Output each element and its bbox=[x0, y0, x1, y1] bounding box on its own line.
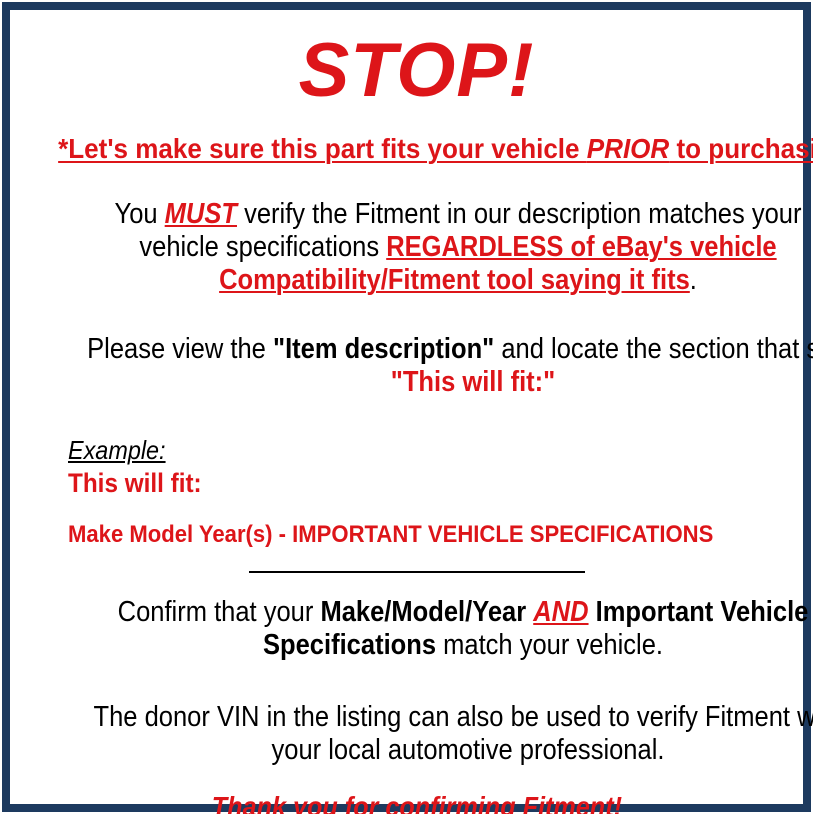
p3-seg-1: Confirm that your bbox=[118, 596, 321, 628]
paragraph-item-description: Please view the "Item description" and l… bbox=[28, 333, 805, 399]
paragraph-verify-fitment: You MUST verify the Fitment in our descr… bbox=[28, 198, 805, 297]
subtitle-banner: *Let's make sure this part fits your veh… bbox=[28, 133, 805, 165]
example-fit-header: This will fit: bbox=[68, 468, 805, 499]
fitment-notice-page: STOP! *Let's make sure this part fits yo… bbox=[0, 0, 813, 814]
example-spec-line-wrap: Make Model Year(s) - IMPORTANT VEHICLE S… bbox=[68, 521, 713, 549]
p3-seg-7: match your vehicle. bbox=[436, 629, 663, 661]
paragraph-item-description-wrap: Please view the "Item description" and l… bbox=[81, 333, 813, 399]
p2-seg-1: Please view the bbox=[87, 333, 273, 365]
closing-message-wrap: Thank you for confirming Fitment! bbox=[211, 791, 621, 814]
example-block: Example: This will fit: Make Model Year(… bbox=[28, 435, 805, 549]
p3-seg-5 bbox=[589, 596, 596, 628]
section-divider bbox=[249, 571, 585, 573]
p2-seg-3: and locate the section that says bbox=[494, 333, 813, 365]
p1-seg-1: You bbox=[115, 198, 165, 230]
example-fit-header-wrap: This will fit: bbox=[68, 468, 202, 499]
p1-seg-5: . bbox=[690, 264, 697, 296]
p1-emphasis-must: MUST bbox=[165, 198, 237, 230]
paragraph-donor-vin: The donor VIN in the listing can also be… bbox=[28, 701, 805, 767]
subtitle-emphasis-prior: PRIOR bbox=[587, 133, 669, 164]
paragraph-confirm-match-wrap: Confirm that your Make/Model/Year AND Im… bbox=[80, 596, 813, 662]
notice-content: STOP! *Let's make sure this part fits yo… bbox=[20, 20, 813, 814]
paragraph-verify-fitment-wrap: You MUST verify the Fitment in our descr… bbox=[80, 198, 813, 297]
page-title: STOP! bbox=[28, 33, 805, 109]
example-label: Example: bbox=[68, 435, 166, 466]
p3-emphasis-and: AND bbox=[533, 596, 588, 628]
p3-bold-make-model-year: Make/Model/Year bbox=[320, 596, 526, 628]
p3-seg-3 bbox=[526, 596, 533, 628]
navy-border-frame: STOP! *Let's make sure this part fits yo… bbox=[2, 2, 811, 812]
example-spec-line: Make Model Year(s) - IMPORTANT VEHICLE S… bbox=[68, 521, 805, 549]
paragraph-donor-vin-wrap: The donor VIN in the listing can also be… bbox=[81, 701, 813, 767]
paragraph-confirm-match: Confirm that your Make/Model/Year AND Im… bbox=[28, 596, 805, 662]
p2-bold-item-description: "Item description" bbox=[273, 333, 494, 365]
subtitle-text-after: to purchasing* bbox=[669, 133, 813, 164]
p2-red-this-will-fit: "This will fit:" bbox=[391, 366, 556, 398]
subtitle-text-before: *Let's make sure this part fits your veh… bbox=[58, 133, 587, 164]
closing-message: Thank you for confirming Fitment! bbox=[28, 791, 805, 814]
subtitle-inner: *Let's make sure this part fits your veh… bbox=[58, 133, 813, 165]
